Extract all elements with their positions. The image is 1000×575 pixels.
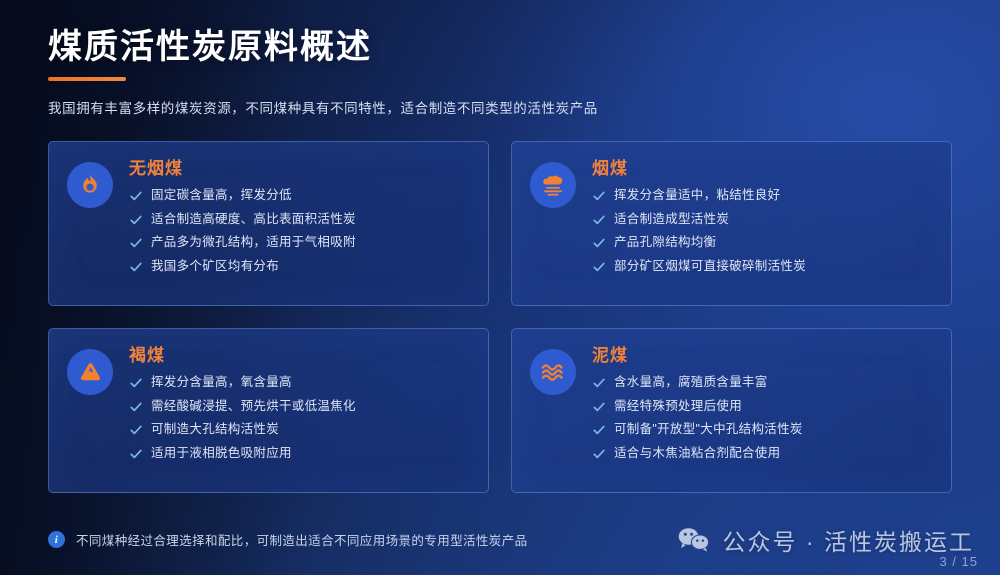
info-icon: i [48,531,65,548]
list-item: 挥发分含量适中，粘结性良好 [592,188,933,204]
check-icon [592,260,606,274]
coal-card-peat[interactable]: 泥煤 含水量高，腐殖质含量丰富 需经特殊预处理后使用 [511,328,952,493]
check-icon [592,423,606,437]
card-body: 泥煤 含水量高，腐殖质含量丰富 需经特殊预处理后使用 [592,345,933,462]
card-title: 烟煤 [592,159,933,179]
list-item-text: 可制备"开放型"大中孔结构活性炭 [614,422,803,438]
list-item: 可制备"开放型"大中孔结构活性炭 [592,422,933,438]
list-item: 适合制造成型活性炭 [592,212,933,228]
check-icon [129,236,143,250]
list-item-text: 挥发分含量高，氧含量高 [151,375,292,391]
smoke-cloud-icon [530,162,576,208]
list-item-text: 适合与木焦油粘合剂配合使用 [614,446,780,462]
page-title: 煤质活性炭原料概述 [48,0,952,70]
card-body: 无烟煤 固定碳含量高，挥发分低 适合制造高硬度、高比表面 [129,158,470,275]
check-icon [129,189,143,203]
list-item-text: 需经酸碱浸提、预先烘干或低温焦化 [151,399,356,415]
check-icon [129,400,143,414]
bullet-list: 挥发分含量适中，粘结性良好 适合制造成型活性炭 产品 [592,188,933,275]
page-subtitle: 我国拥有丰富多样的煤炭资源，不同煤种具有不同特性，适合制造不同类型的活性炭产品 [48,99,952,119]
list-item-text: 部分矿区烟煤可直接破碎制活性炭 [614,259,806,275]
list-item-text: 挥发分含量适中，粘结性良好 [614,188,780,204]
watermark: 公众号 · 活性炭搬运工 [677,523,974,557]
coal-card-bituminous[interactable]: 烟煤 挥发分含量适中，粘结性良好 适合制造成型活性炭 [511,141,952,306]
waves-icon [530,349,576,395]
flame-icon [67,162,113,208]
card-title: 无烟煤 [129,159,470,179]
list-item: 适合制造高硬度、高比表面积活性炭 [129,212,470,228]
card-title: 褐煤 [129,346,470,366]
list-item: 可制造大孔结构活性炭 [129,422,470,438]
list-item: 含水量高，腐殖质含量丰富 [592,375,933,391]
check-icon [592,447,606,461]
watermark-text: 公众号 · 活性炭搬运工 [723,523,974,557]
list-item-text: 固定碳含量高，挥发分低 [151,188,292,204]
list-item: 适合与木焦油粘合剂配合使用 [592,446,933,462]
check-icon [129,376,143,390]
list-item-text: 适用于液相脱色吸附应用 [151,446,292,462]
coal-card-anthracite[interactable]: 无烟煤 固定碳含量高，挥发分低 适合制造高硬度、高比表面 [48,141,489,306]
list-item-text: 适合制造高硬度、高比表面积活性炭 [151,212,356,228]
list-item: 产品多为微孔结构，适用于气相吸附 [129,235,470,251]
card-body: 烟煤 挥发分含量适中，粘结性良好 适合制造成型活性炭 [592,158,933,275]
wechat-icon [677,526,711,554]
list-item-text: 含水量高，腐殖质含量丰富 [614,375,768,391]
bullet-list: 挥发分含量高，氧含量高 需经酸碱浸提、预先烘干或低温焦化 [129,375,470,462]
page-indicator: 3 / 15 [939,554,978,569]
bullet-list: 含水量高，腐殖质含量丰富 需经特殊预处理后使用 可制 [592,375,933,462]
coal-card-lignite[interactable]: 褐煤 挥发分含量高，氧含量高 需经酸碱浸提、预先烘干或低 [48,328,489,493]
title-underline-accent [48,77,126,81]
list-item-text: 可制造大孔结构活性炭 [151,422,279,438]
coal-type-card-grid: 无烟煤 固定碳含量高，挥发分低 适合制造高硬度、高比表面 [48,141,952,493]
check-icon [592,213,606,227]
list-item-text: 我国多个矿区均有分布 [151,259,279,275]
check-icon [592,189,606,203]
check-icon [592,236,606,250]
list-item-text: 需经特殊预处理后使用 [614,399,742,415]
list-item: 适用于液相脱色吸附应用 [129,446,470,462]
slide-canvas: 煤质活性炭原料概述 我国拥有丰富多样的煤炭资源，不同煤种具有不同特性，适合制造不… [0,0,1000,575]
card-body: 褐煤 挥发分含量高，氧含量高 需经酸碱浸提、预先烘干或低 [129,345,470,462]
check-icon [592,400,606,414]
footer-note-text: 不同煤种经过合理选择和配比，可制造出适合不同应用场景的专用型活性炭产品 [76,530,528,549]
list-item-text: 产品孔隙结构均衡 [614,235,716,251]
list-item: 需经酸碱浸提、预先烘干或低温焦化 [129,399,470,415]
check-icon [129,447,143,461]
list-item: 我国多个矿区均有分布 [129,259,470,275]
list-item: 挥发分含量高，氧含量高 [129,375,470,391]
check-icon [129,260,143,274]
list-item: 部分矿区烟煤可直接破碎制活性炭 [592,259,933,275]
mountain-icon [67,349,113,395]
footer-note: i 不同煤种经过合理选择和配比，可制造出适合不同应用场景的专用型活性炭产品 [48,530,528,549]
check-icon [129,423,143,437]
bullet-list: 固定碳含量高，挥发分低 适合制造高硬度、高比表面积活性炭 [129,188,470,275]
card-title: 泥煤 [592,346,933,366]
list-item: 产品孔隙结构均衡 [592,235,933,251]
list-item: 需经特殊预处理后使用 [592,399,933,415]
check-icon [592,376,606,390]
list-item-text: 产品多为微孔结构，适用于气相吸附 [151,235,356,251]
check-icon [129,213,143,227]
list-item-text: 适合制造成型活性炭 [614,212,729,228]
list-item: 固定碳含量高，挥发分低 [129,188,470,204]
